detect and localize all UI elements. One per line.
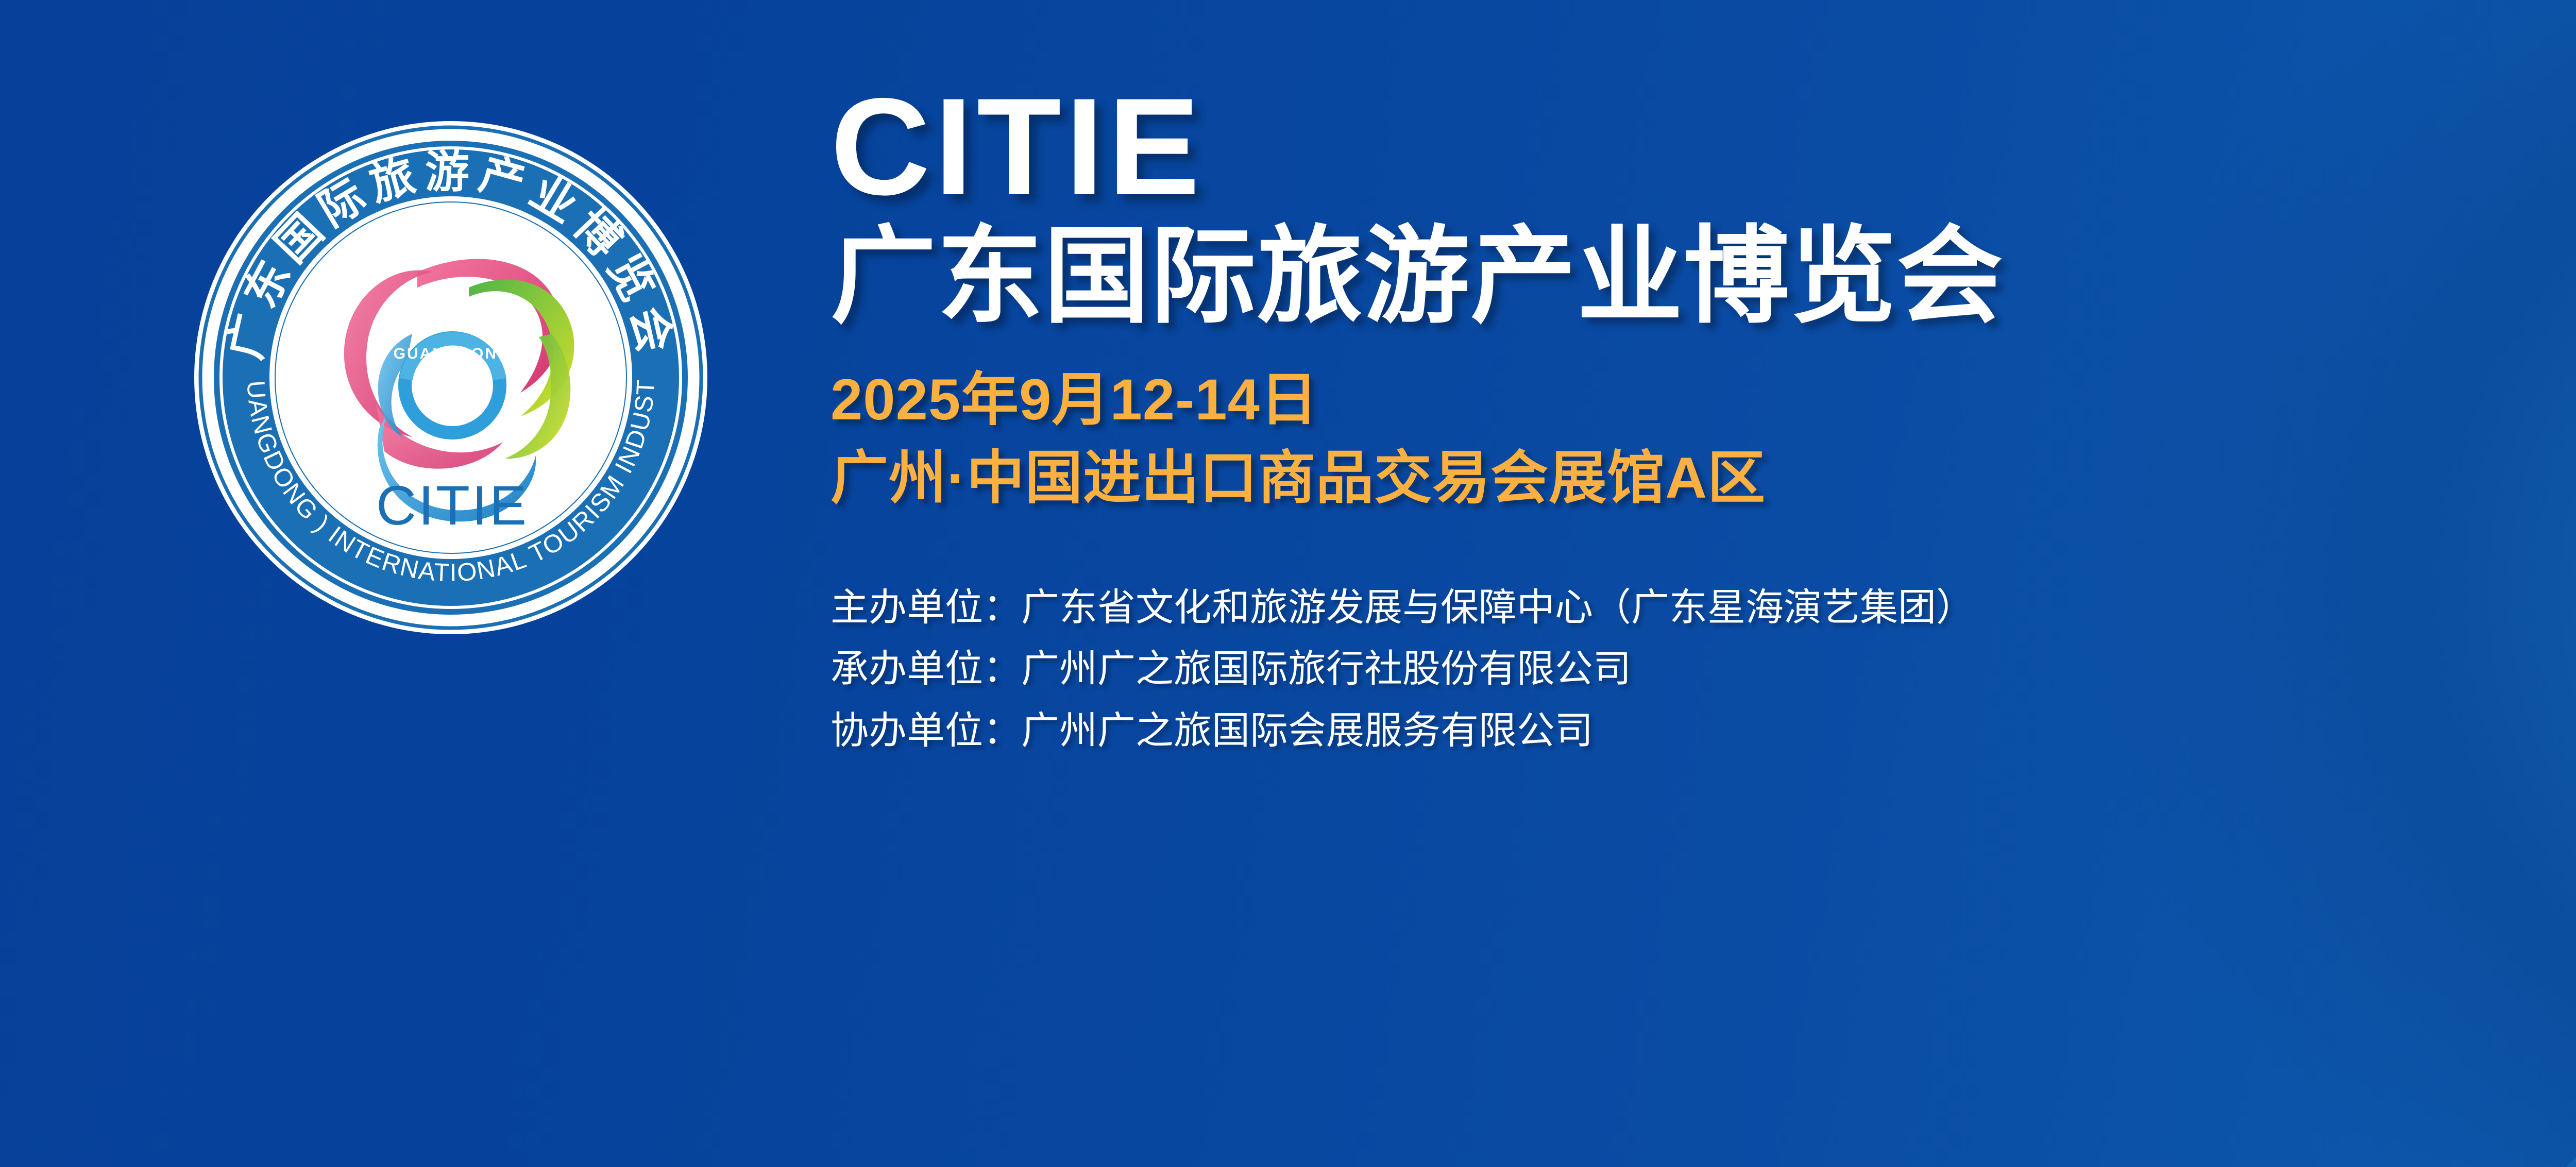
- organizer-host: 主办单位：广东省文化和旅游发展与保障中心（广东星海演艺集团）: [831, 577, 2576, 638]
- organizer-coorganizer: 协办单位：广州广之旅国际会展服务有限公司: [831, 700, 2576, 762]
- citie-logo: 广东国际旅游产业博览会 CHINA (GUANGDONG ) INTERNATI…: [191, 117, 711, 638]
- banner-text-block: CITIE 广东国际旅游产业博览会 2025年9月12-14日 广州·中国进出口…: [831, 77, 2576, 762]
- event-venue: 广州·中国进出口商品交易会展馆A区: [831, 441, 2576, 516]
- event-date: 2025年9月12-14日: [831, 362, 2576, 437]
- brand-acronym: CITIE: [831, 77, 2576, 215]
- wave-shadow: [2452, 701, 2576, 1167]
- organizer-list: 主办单位：广东省文化和旅游发展与保障中心（广东星海演艺集团） 承办单位：广州广之…: [831, 577, 2576, 762]
- logo-acronym: CITIE: [376, 474, 529, 536]
- citie-promo-banner: 广东国际旅游产业博览会 CHINA (GUANGDONG ) INTERNATI…: [0, 0, 2576, 1167]
- logo-mark-guangdong: GUANGDONG: [394, 345, 512, 362]
- organizer-undertaker: 承办单位：广州广之旅国际旅行社股份有限公司: [831, 638, 2576, 700]
- page-title: 广东国际旅游产业博览会: [831, 219, 2576, 333]
